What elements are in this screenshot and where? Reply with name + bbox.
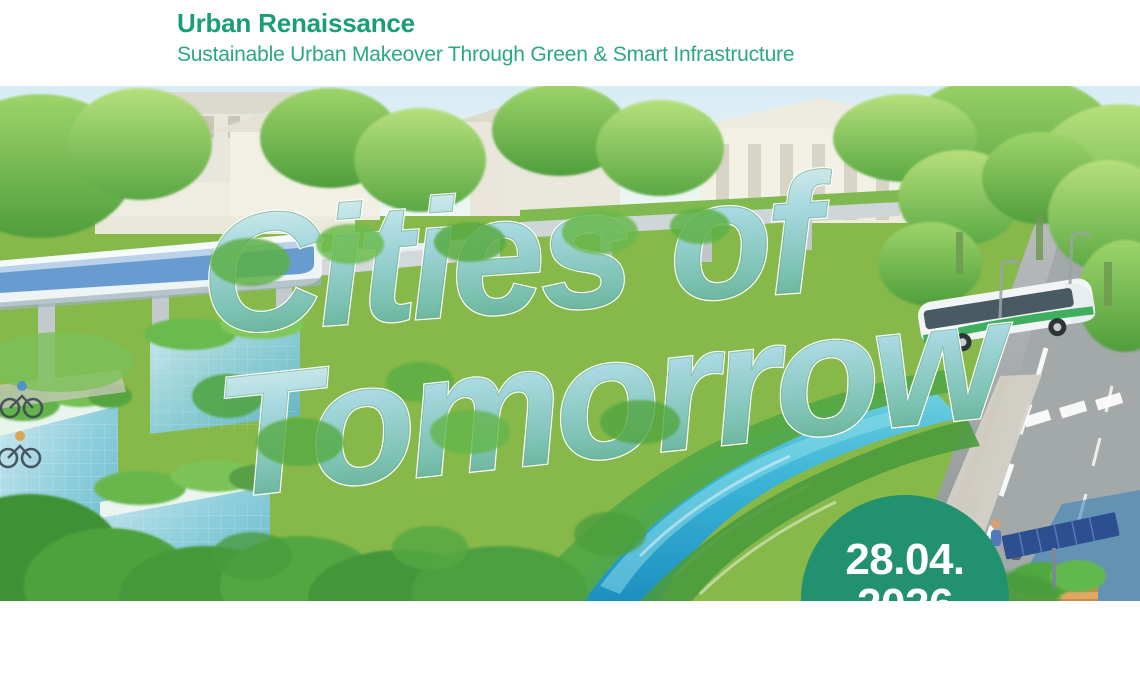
page-subtitle: Sustainable Urban Makeover Through Green… [177,43,794,67]
poster-header: Urban Renaissance Sustainable Urban Make… [0,0,1140,86]
event-poster: Urban Renaissance Sustainable Urban Make… [0,0,1140,694]
event-date-day: 28.04. [845,538,964,583]
poster-footer: Event organized by: [0,601,1140,694]
hero-image: Cities of Cities of Tomorrow Tomorrow [0,86,1140,601]
event-date-year: 2026 [857,583,953,601]
page-title: Urban Renaissance [177,8,415,39]
